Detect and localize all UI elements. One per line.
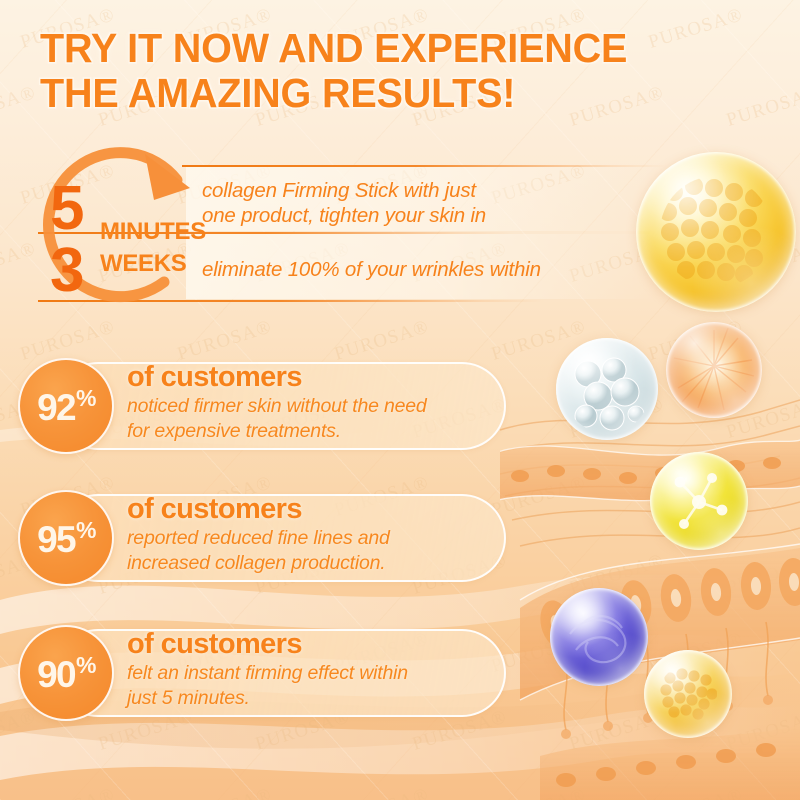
- stat-badge-95: 95 %: [18, 490, 114, 586]
- brand-watermark: PUROSA®: [488, 784, 588, 800]
- brand-watermark: PUROSA®: [724, 706, 800, 756]
- timeframe-number-weeks: 3: [50, 240, 82, 302]
- brand-watermark: PUROSA®: [724, 550, 800, 600]
- stat-heading: of customers: [127, 362, 507, 392]
- stat-percent-value: 90: [37, 656, 75, 693]
- timeframe-text-2: eliminate 100% of your wrinkles within: [202, 257, 541, 282]
- stat-text: of customers reported reduced fine lines…: [127, 494, 507, 575]
- stat-body-line-2: increased collagen production.: [127, 551, 507, 575]
- stat-body-line-2: just 5 minutes.: [127, 686, 507, 710]
- brand-watermark: PUROSA®: [724, 82, 800, 132]
- timeframe-text-1-line-1: collagen Firming Stick with just: [202, 178, 486, 203]
- stat-heading: of customers: [127, 494, 507, 524]
- stat-body-line-1: reported reduced fine lines and: [127, 526, 507, 550]
- yellow-molecule-sphere: [650, 452, 748, 550]
- headline-line-1: TRY IT NOW AND EXPERIENCE: [40, 26, 716, 71]
- stat-body: felt an instant firming effect within ju…: [127, 661, 507, 709]
- headline-line-2: THE AMAZING RESULTS!: [40, 71, 716, 116]
- stat-body-line-2: for expensive treatments.: [127, 419, 507, 443]
- percent-sign-icon: %: [76, 654, 95, 677]
- stat-heading: of customers: [127, 629, 507, 659]
- brand-watermark: PUROSA®: [0, 82, 39, 132]
- stat-body-line-1: felt an instant firming effect within: [127, 661, 507, 685]
- blue-swirl-sphere: [550, 588, 648, 686]
- timeframe-block: 5 MINUTES 3 WEEKS collagen Firming Stick…: [0, 140, 800, 330]
- percent-sign-icon: %: [76, 519, 95, 542]
- stat-body: noticed firmer skin without the need for…: [127, 394, 507, 442]
- stat-text: of customers noticed firmer skin without…: [127, 362, 507, 443]
- stat-row-92: 92 % of customers noticed firmer skin wi…: [10, 358, 510, 454]
- timeframe-number-minutes: 5: [50, 178, 82, 240]
- silver-bubble-cluster-sphere: [556, 338, 658, 440]
- orange-radial-burst-sphere: [666, 322, 762, 418]
- timeframe-text-1: collagen Firming Stick with just one pro…: [202, 178, 486, 228]
- brand-watermark: PUROSA®: [174, 784, 274, 800]
- stat-body-line-1: noticed firmer skin without the need: [127, 394, 507, 418]
- timeframe-unit-weeks: WEEKS: [100, 250, 187, 278]
- brand-watermark: PUROSA®: [331, 784, 431, 800]
- divider-rule-top: [182, 165, 667, 167]
- stat-badge-90: 90 %: [18, 625, 114, 721]
- timeframe-text-1-line-2: one product, tighten your skin in: [202, 203, 486, 228]
- stat-body: reported reduced fine lines and increase…: [127, 526, 507, 574]
- stat-percent-value: 95: [37, 521, 75, 558]
- brand-watermark: PUROSA®: [17, 784, 117, 800]
- stat-row-90: 90 % of customers felt an instant firmin…: [10, 625, 510, 721]
- honeycomb-gold-sphere-small: [644, 650, 732, 738]
- percent-sign-icon: %: [76, 387, 95, 410]
- stat-row-95: 95 % of customers reported reduced fine …: [10, 490, 510, 586]
- timeframe-text-2-line-1: eliminate 100% of your wrinkles within: [202, 257, 541, 282]
- stat-percent-value: 92: [37, 389, 75, 426]
- page-title: TRY IT NOW AND EXPERIENCE THE AMAZING RE…: [40, 26, 716, 115]
- timeframe-unit-minutes: MINUTES: [100, 218, 206, 246]
- promotional-poster: PUROSA®PUROSA®PUROSA®PUROSA®PUROSA®PUROS…: [0, 0, 800, 800]
- stat-badge-92: 92 %: [18, 358, 114, 454]
- stat-text: of customers felt an instant firming eff…: [127, 629, 507, 710]
- brand-watermark: PUROSA®: [645, 784, 745, 800]
